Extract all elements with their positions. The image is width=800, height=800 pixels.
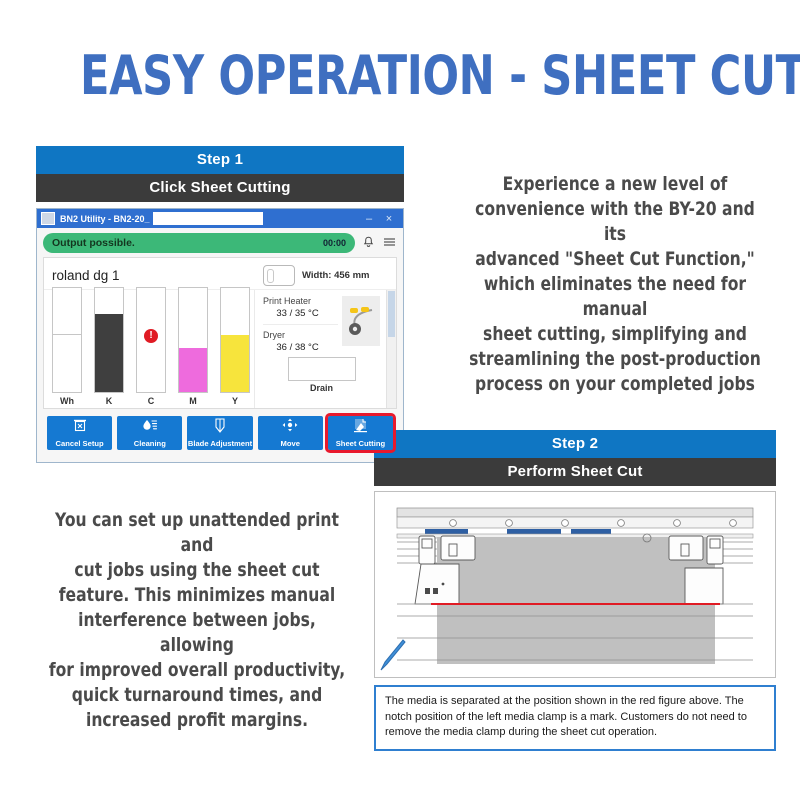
printer-media-clamp-diagram (374, 491, 776, 678)
ink-bar-track (52, 287, 82, 393)
heater-diagram-icon (342, 296, 380, 346)
ink-bar-label: K (106, 396, 113, 406)
ink-bar-label: M (189, 396, 197, 406)
print-heater-value: 33 / 35 °C (263, 308, 332, 319)
toolbar-button-sheet-cutting[interactable]: Sheet Cutting (328, 416, 393, 450)
toolbar-button-cancel-setup[interactable]: Cancel Setup (47, 416, 112, 450)
ink-bar-track (178, 287, 208, 393)
step-1-subtitle: Click Sheet Cutting (36, 174, 404, 202)
move-arrows-icon (258, 418, 323, 435)
heater-block: Print Heater 33 / 35 °C Dryer 36 / 38 °C (263, 296, 380, 353)
ink-bar-label: Y (232, 396, 238, 406)
ink-alert-icon: ! (144, 329, 158, 343)
printer-header-row: roland dg 1 Width: 456 mm (44, 258, 396, 289)
status-row: Output possible. 00:00 (43, 233, 397, 253)
step-2-band: Step 2 (374, 430, 776, 458)
sheet-cutting-icon (328, 418, 393, 436)
toolbar-button-cleaning[interactable]: Cleaning (117, 416, 182, 450)
promo-text-left: You can set up unattended print and cut … (45, 508, 348, 733)
app-logo-icon (41, 212, 55, 225)
hamburger-icon[interactable] (382, 236, 397, 250)
close-button[interactable]: × (379, 213, 399, 225)
window-titlebar: BN2 Utility - BN2-20_ – × (37, 209, 403, 228)
status-mid-row: WhK!CMY Print Heater 33 / 35 °C Dryer 36… (44, 289, 396, 408)
dryer-label: Dryer (263, 330, 338, 340)
page-title: EASY OPERATION - SHEET CUT (80, 44, 720, 107)
step-2-card: Step 2 Perform Sheet Cut (374, 430, 776, 751)
ink-bar-track (94, 287, 124, 393)
promo-text-right: Experience a new level of convenience wi… (463, 172, 766, 397)
status-badge: Output possible. 00:00 (43, 233, 355, 253)
status-text: Output possible. (52, 237, 135, 249)
ink-bar-label: C (148, 396, 155, 406)
drain-bar (288, 357, 356, 381)
step-2-subtitle: Perform Sheet Cut (374, 458, 776, 486)
printer-status-panel: roland dg 1 Width: 456 mm WhK!CMY Print … (43, 257, 397, 409)
heater-column: Print Heater 33 / 35 °C Dryer 36 / 38 °C (254, 290, 386, 408)
step-1-band: Step 1 (36, 146, 404, 174)
media-width-label: Width: 456 mm (302, 270, 388, 281)
scrollbar-thumb[interactable] (388, 291, 395, 337)
ink-bar-wh: Wh (52, 287, 82, 406)
toolbar-button-label: Cancel Setup (56, 439, 104, 448)
ink-levels-area: WhK!CMY (44, 290, 254, 408)
toolbar-button-label: Cleaning (134, 439, 166, 448)
drain-indicator: Drain (263, 357, 380, 393)
ink-bar-fill (179, 348, 207, 392)
heater-divider (263, 324, 338, 325)
cleaning-droplet-icon (117, 418, 182, 435)
window-title: BN2 Utility - BN2-20_ (60, 214, 150, 224)
blade-icon (187, 418, 252, 436)
toolbar-button-blade-adjustment[interactable]: Blade Adjustment (187, 416, 252, 450)
status-timer: 00:00 (323, 238, 346, 248)
bn2-utility-window: BN2 Utility - BN2-20_ – × Output possibl… (36, 208, 404, 463)
ink-bar-c: !C (136, 287, 166, 406)
ink-bar-track (220, 287, 250, 393)
ink-bar-fill (95, 314, 123, 392)
step-2-caption-text: The media is separated at the position s… (385, 694, 765, 741)
step-1-card: Step 1 Click Sheet Cutting BN2 Utility -… (36, 146, 404, 463)
toolbar-button-label: Sheet Cutting (336, 439, 385, 448)
dryer-value: 36 / 38 °C (263, 342, 332, 353)
print-heater-label: Print Heater (263, 296, 338, 306)
ink-bar-k: K (94, 287, 124, 406)
step-2-caption-box: The media is separated at the position s… (374, 685, 776, 751)
minimize-button[interactable]: – (359, 213, 379, 225)
toolbar-button-move[interactable]: Move (258, 416, 323, 450)
bell-icon[interactable] (361, 236, 376, 251)
ink-bar-y: Y (220, 287, 250, 406)
sheet-cut-figure (375, 492, 775, 677)
toolbar-button-label: Move (281, 439, 300, 448)
drain-label: Drain (310, 383, 333, 393)
ink-bar-label: Wh (60, 396, 74, 406)
printer-name: roland dg 1 (52, 268, 263, 283)
ink-bar-m: M (178, 287, 208, 406)
action-toolbar: Cancel SetupCleaningBlade AdjustmentMove… (43, 409, 397, 456)
titlebar-text-field[interactable] (153, 212, 263, 225)
ink-bar-divider (53, 334, 81, 335)
ink-bar-chart: WhK!CMY (52, 296, 250, 406)
toolbar-button-label: Blade Adjustment (188, 439, 252, 448)
heater-readouts: Print Heater 33 / 35 °C Dryer 36 / 38 °C (263, 296, 338, 353)
panel-scrollbar[interactable] (386, 290, 396, 408)
cancel-setup-icon (47, 418, 112, 435)
ink-bar-track: ! (136, 287, 166, 393)
ink-bar-fill (221, 335, 249, 392)
window-body: Output possible. 00:00 roland dg 1 Width… (37, 228, 403, 462)
media-roll-icon (263, 265, 295, 286)
